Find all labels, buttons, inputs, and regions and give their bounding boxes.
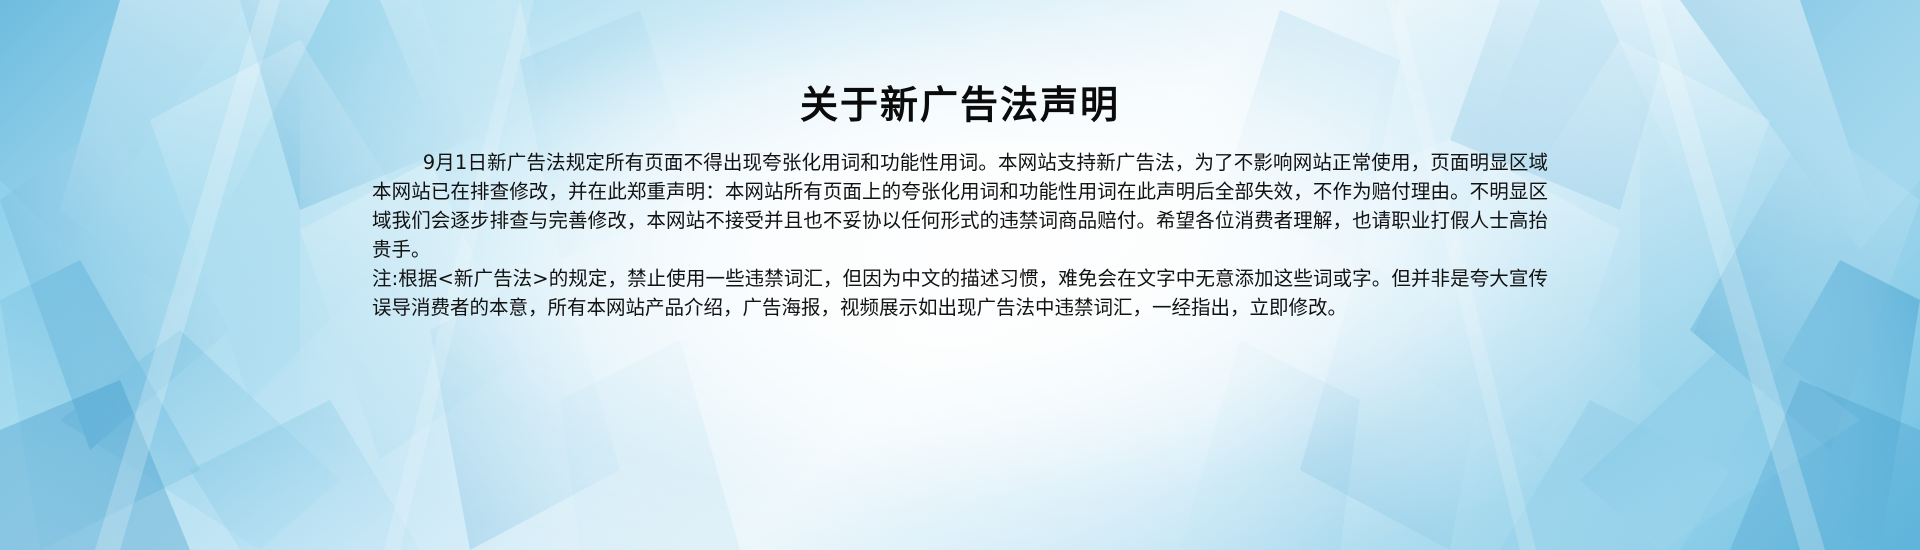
statement-body: 9月1日新广告法规定所有页面不得出现夸张化用词和功能性用词。本网站支持新广告法，… <box>372 148 1548 322</box>
advertising-law-statement-banner: 关于新广告法声明 9月1日新广告法规定所有页面不得出现夸张化用词和功能性用词。本… <box>0 0 1920 550</box>
statement-content: 关于新广告法声明 9月1日新广告法规定所有页面不得出现夸张化用词和功能性用词。本… <box>360 0 1560 550</box>
statement-paragraph-2: 注:根据<新广告法>的规定，禁止使用一些违禁词汇，但因为中文的描述习惯，难免会在… <box>372 264 1548 322</box>
statement-paragraph-1: 9月1日新广告法规定所有页面不得出现夸张化用词和功能性用词。本网站支持新广告法，… <box>372 148 1548 264</box>
page-title: 关于新广告法声明 <box>360 82 1560 128</box>
